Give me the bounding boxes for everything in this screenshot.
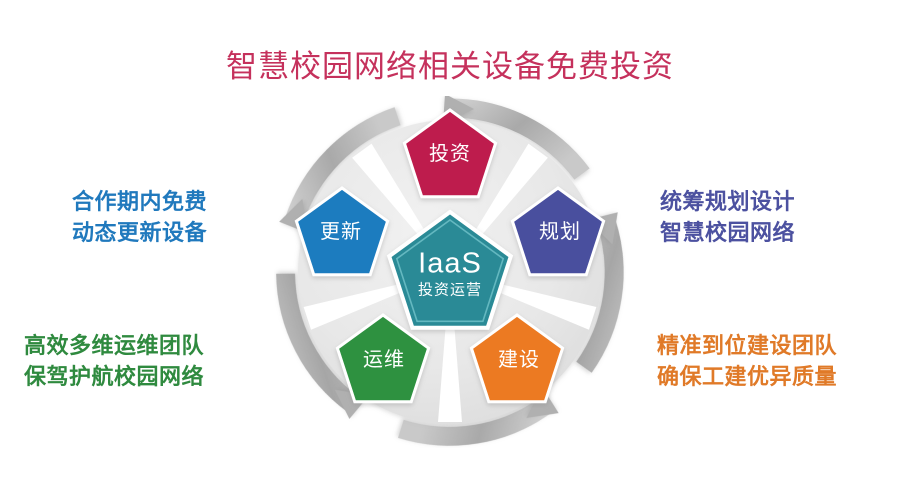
caption-ops: 高效多维运维团队 保驾护航校园网络 <box>24 330 204 392</box>
caption-build-line2: 确保工建优异质量 <box>657 361 837 392</box>
caption-plan-line1: 统筹规划设计 <box>660 186 795 217</box>
caption-build-line1: 精准到位建设团队 <box>657 330 837 361</box>
pentagon-wheel-diagram: 投资 规划 建设 运维 更新 IaaS 投资运营 <box>274 96 626 448</box>
caption-plan-line2: 智慧校园网络 <box>660 217 795 248</box>
caption-build: 精准到位建设团队 确保工建优异质量 <box>657 330 837 392</box>
caption-update: 合作期内免费 动态更新设备 <box>72 186 207 248</box>
caption-update-line1: 合作期内免费 <box>72 186 207 217</box>
caption-ops-line2: 保驾护航校园网络 <box>24 361 204 392</box>
diagram-canvas: 智慧校园网络相关设备免费投资 合作期内免费 动态更新设备 统筹规划设计 智慧校园… <box>0 0 900 478</box>
caption-plan: 统筹规划设计 智慧校园网络 <box>660 186 795 248</box>
page-title: 智慧校园网络相关设备免费投资 <box>0 48 900 86</box>
caption-update-line2: 动态更新设备 <box>72 217 207 248</box>
pentagon-invest[interactable] <box>404 110 495 197</box>
caption-ops-line1: 高效多维运维团队 <box>24 330 204 361</box>
